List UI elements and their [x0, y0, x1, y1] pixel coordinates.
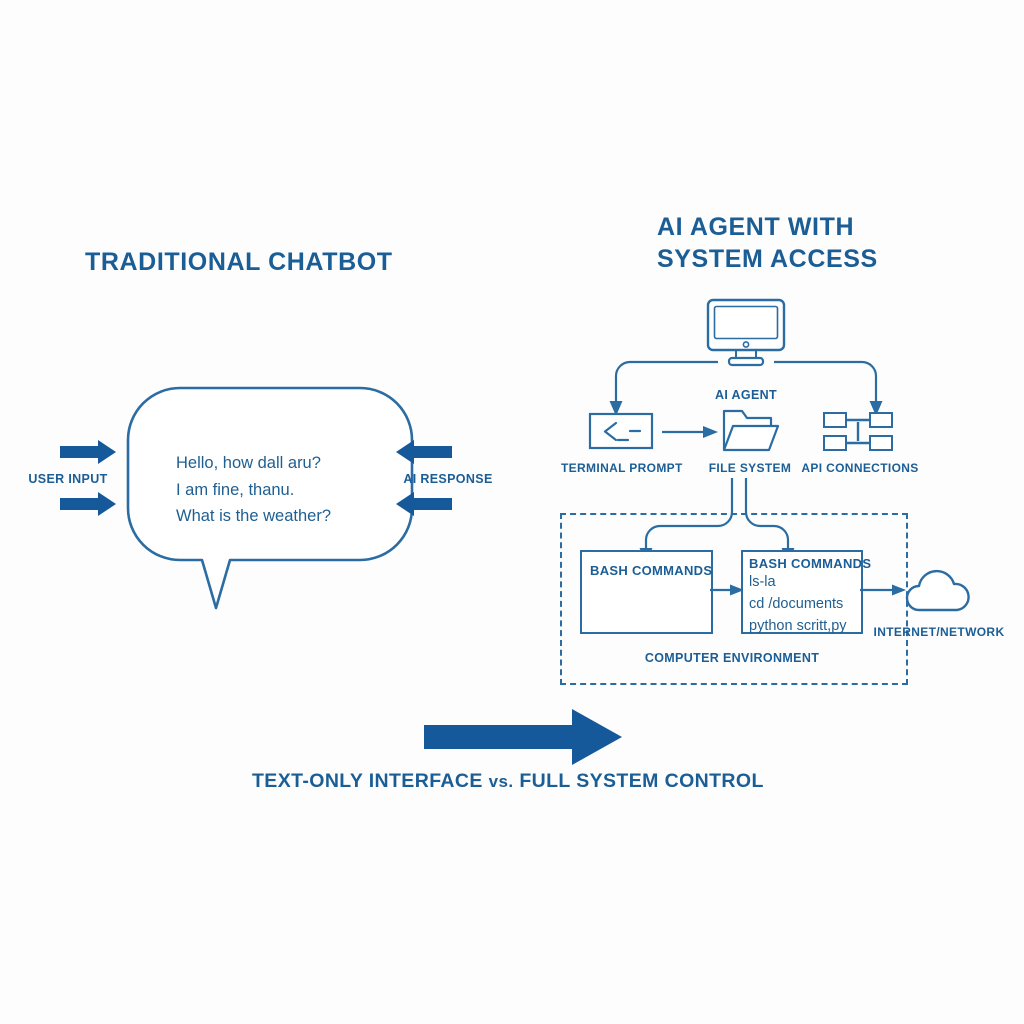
diagram-canvas: TRADITIONAL CHATBOT AI AGENT WITH SYSTEM…	[0, 0, 1024, 1024]
footer-caption-vs: vs.	[489, 772, 514, 791]
chat-line-3: What is the weather?	[176, 503, 331, 530]
bash-command-1: ls-la	[749, 571, 871, 593]
right-panel-title-line2: SYSTEM ACCESS	[657, 243, 878, 275]
right-panel-title: AI AGENT WITH SYSTEM ACCESS	[657, 211, 878, 275]
bash-commands-box-left-heading: BASH COMMANDS	[590, 563, 712, 578]
computer-environment-label: COMPUTER ENVIRONMENT	[600, 651, 864, 665]
left-panel-title: TRADITIONAL CHATBOT	[85, 246, 393, 278]
chat-bubble-text: Hello, how dall aru? I am fine, thanu. W…	[176, 450, 331, 530]
internet-network-label: INTERNET/NETWORK	[872, 625, 1006, 639]
footer-caption-part2: FULL SYSTEM CONTROL	[519, 770, 764, 792]
bash-command-3: python scritt,py	[749, 615, 871, 637]
right-panel-title-line1: AI AGENT WITH	[657, 211, 878, 243]
transition-arrow-icon	[424, 709, 624, 765]
terminal-prompt-icon	[588, 412, 654, 450]
footer-caption-part1: TEXT-ONLY INTERFACE	[252, 770, 483, 792]
bash-commands-box-right-heading: BASH COMMANDS	[749, 556, 871, 571]
folder-icon	[721, 407, 779, 453]
connector-terminal-to-filesystem	[662, 422, 720, 442]
footer-caption: TEXT-ONLY INTERFACE vs. FULL SYSTEM CONT…	[252, 770, 764, 793]
chat-line-1: Hello, how dall aru?	[176, 450, 331, 477]
chat-line-2: I am fine, thanu.	[176, 477, 331, 504]
api-connections-label: API CONNECTIONS	[800, 461, 920, 475]
cloud-icon	[905, 570, 971, 614]
file-system-label: FILE SYSTEM	[698, 461, 802, 475]
terminal-prompt-label: TERMINAL PROMPT	[561, 461, 681, 475]
user-input-label: USER INPUT	[18, 472, 118, 486]
api-connections-icon	[823, 411, 895, 453]
connector-bash-to-internet	[860, 581, 908, 599]
bash-command-2: cd /documents	[749, 593, 871, 615]
bash-commands-box-right-content: BASH COMMANDS ls-la cd /documents python…	[749, 556, 871, 637]
ai-response-label: AI RESPONSE	[398, 472, 498, 486]
